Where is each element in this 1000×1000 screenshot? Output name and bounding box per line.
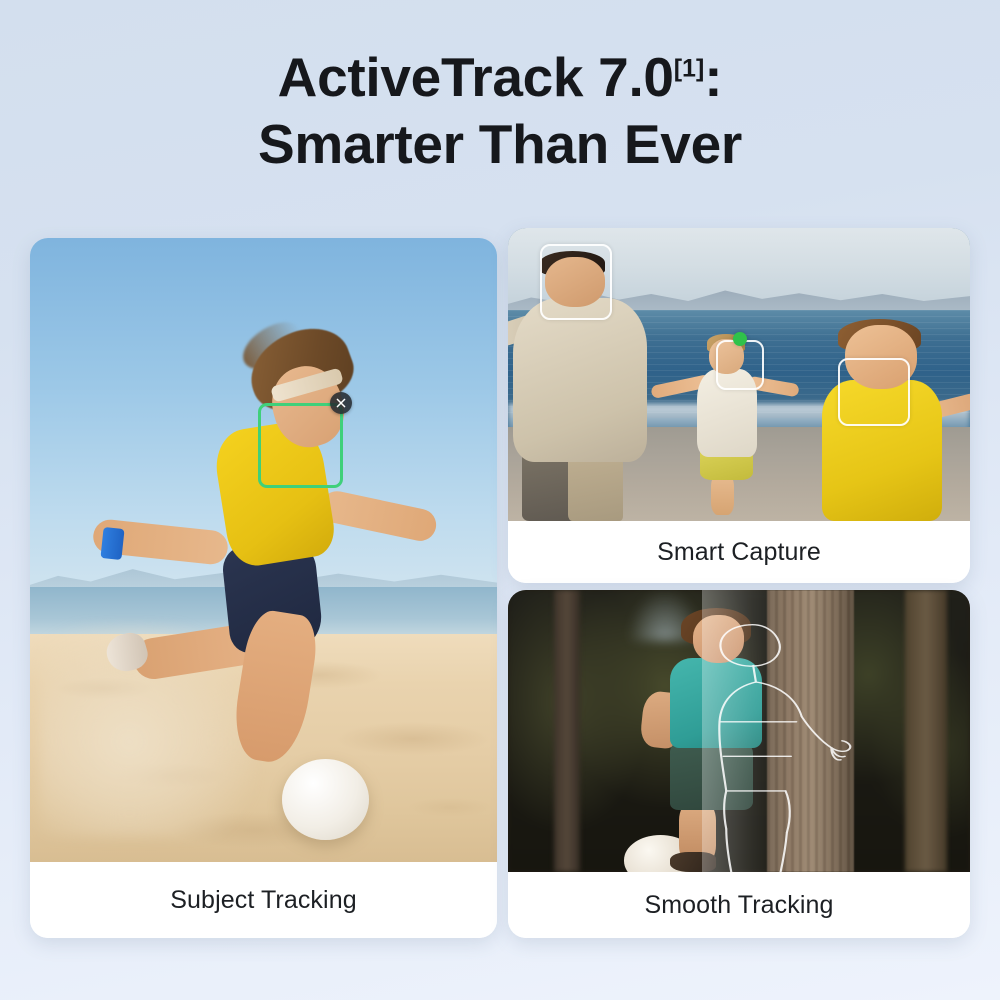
boy-shirt	[670, 658, 762, 748]
beach-scene	[30, 238, 497, 862]
page-title: ActiveTrack 7.0[1]: Smarter Than Ever	[0, 44, 1000, 178]
right-tree-trunk	[905, 590, 947, 872]
subject-wristband	[101, 526, 126, 559]
boy-head	[845, 325, 917, 389]
close-icon[interactable]	[330, 392, 352, 414]
selected-subject-dot-icon	[733, 332, 747, 346]
shoreline-scene	[508, 228, 970, 521]
caption-smart-capture: Smart Capture	[508, 521, 970, 583]
soccer-ball	[282, 759, 368, 840]
man-head	[545, 257, 605, 307]
card-smooth-tracking[interactable]: Smooth Tracking	[508, 590, 970, 938]
boy-torso	[822, 380, 942, 521]
smart-capture-image	[508, 228, 970, 521]
caption-subject-tracking: Subject Tracking	[30, 862, 497, 938]
boy-shoe	[670, 852, 716, 872]
girl-torso	[697, 369, 757, 457]
background-tree-trunk	[554, 590, 579, 872]
boy-head	[693, 615, 744, 663]
man-torso	[513, 298, 647, 462]
caption-smooth-tracking: Smooth Tracking	[508, 872, 970, 938]
smooth-tracking-image	[508, 590, 970, 872]
foreground-tree-trunk	[767, 590, 855, 872]
card-subject-tracking[interactable]: Subject Tracking	[30, 238, 497, 938]
card-smart-capture[interactable]: Smart Capture	[508, 228, 970, 583]
page-title-line-2: Smarter Than Ever	[0, 111, 1000, 178]
girl-leg	[711, 474, 734, 515]
boy-shorts	[670, 742, 753, 810]
page-title-line-1: ActiveTrack 7.0[1]:	[0, 44, 1000, 111]
footnote-marker: [1]	[674, 55, 705, 83]
page-title-colon: :	[704, 46, 722, 108]
page-title-main: ActiveTrack 7.0	[278, 46, 674, 108]
subject-tracking-image	[30, 238, 497, 862]
forest-scene	[508, 590, 970, 872]
